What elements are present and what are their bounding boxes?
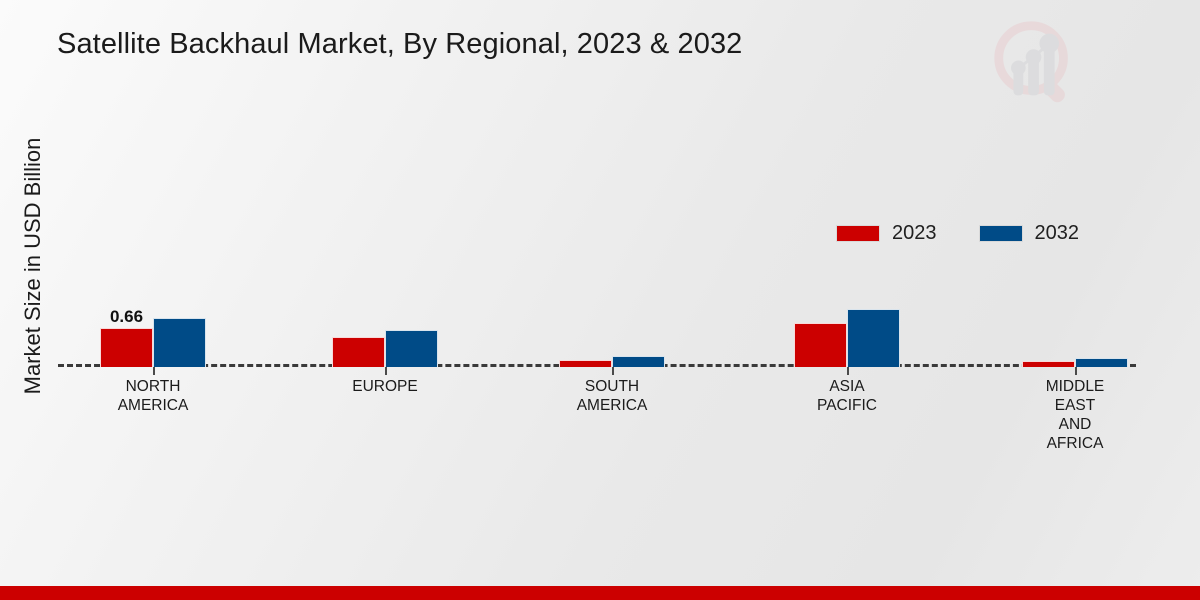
- x-axis-label-north-america: NORTH AMERICA: [118, 377, 189, 415]
- x-axis-tick: [847, 367, 849, 375]
- x-axis-tick: [612, 367, 614, 375]
- bar-2023-south-america[interactable]: [559, 360, 612, 367]
- x-axis-label-line: EAST: [1046, 396, 1105, 415]
- x-axis-tick: [385, 367, 387, 375]
- x-axis-label-line: PACIFIC: [817, 396, 877, 415]
- bar-2023-europe[interactable]: [332, 337, 385, 367]
- plot-area: 0.66 NORTH AMERICA EUROPE: [58, 120, 1136, 367]
- x-axis-label-south-america: SOUTH AMERICA: [577, 377, 648, 415]
- x-axis-label-middle-east-and-africa: MIDDLE EAST AND AFRICA: [1046, 377, 1105, 453]
- x-axis-label-line: AMERICA: [577, 396, 648, 415]
- x-axis-label-line: NORTH: [118, 377, 189, 396]
- x-axis-label-line: ASIA: [817, 377, 877, 396]
- bar-2032-europe[interactable]: [385, 330, 438, 367]
- bar-group-bars: 0.66: [100, 318, 206, 367]
- x-axis-label-line: AFRICA: [1046, 434, 1105, 453]
- chart-title: Satellite Backhaul Market, By Regional, …: [57, 28, 742, 61]
- bar-2023-asia-pacific[interactable]: [794, 323, 847, 367]
- x-axis-label-line: SOUTH: [577, 377, 648, 396]
- bar-group-bars: [1022, 358, 1128, 367]
- bar-2032-south-america[interactable]: [612, 356, 665, 367]
- bar-group-bars: [559, 356, 665, 367]
- bar-2023-north-america[interactable]: 0.66: [100, 328, 153, 367]
- x-axis-label-line: AMERICA: [118, 396, 189, 415]
- bar-value-label-2023-north-america: 0.66: [110, 307, 143, 327]
- watermark-logo-icon: [987, 14, 1085, 112]
- bottom-accent-strip: [0, 586, 1200, 600]
- bar-2032-north-america[interactable]: [153, 318, 206, 367]
- x-axis-tick: [1075, 367, 1077, 375]
- bar-2023-middle-east-and-africa[interactable]: [1022, 361, 1075, 367]
- bar-group-bars: [332, 330, 438, 367]
- bar-2032-asia-pacific[interactable]: [847, 309, 900, 367]
- x-axis-label-line: EUROPE: [352, 377, 417, 396]
- x-axis-label-asia-pacific: ASIA PACIFIC: [817, 377, 877, 415]
- chart-canvas: Satellite Backhaul Market, By Regional, …: [0, 0, 1200, 600]
- x-axis-label-europe: EUROPE: [352, 377, 417, 396]
- bar-group-bars: [794, 309, 900, 367]
- x-axis-tick: [153, 367, 155, 375]
- x-axis-label-line: MIDDLE: [1046, 377, 1105, 396]
- x-axis-label-line: AND: [1046, 415, 1105, 434]
- y-axis-title: Market Size in USD Billion: [20, 86, 46, 446]
- bar-2032-middle-east-and-africa[interactable]: [1075, 358, 1128, 367]
